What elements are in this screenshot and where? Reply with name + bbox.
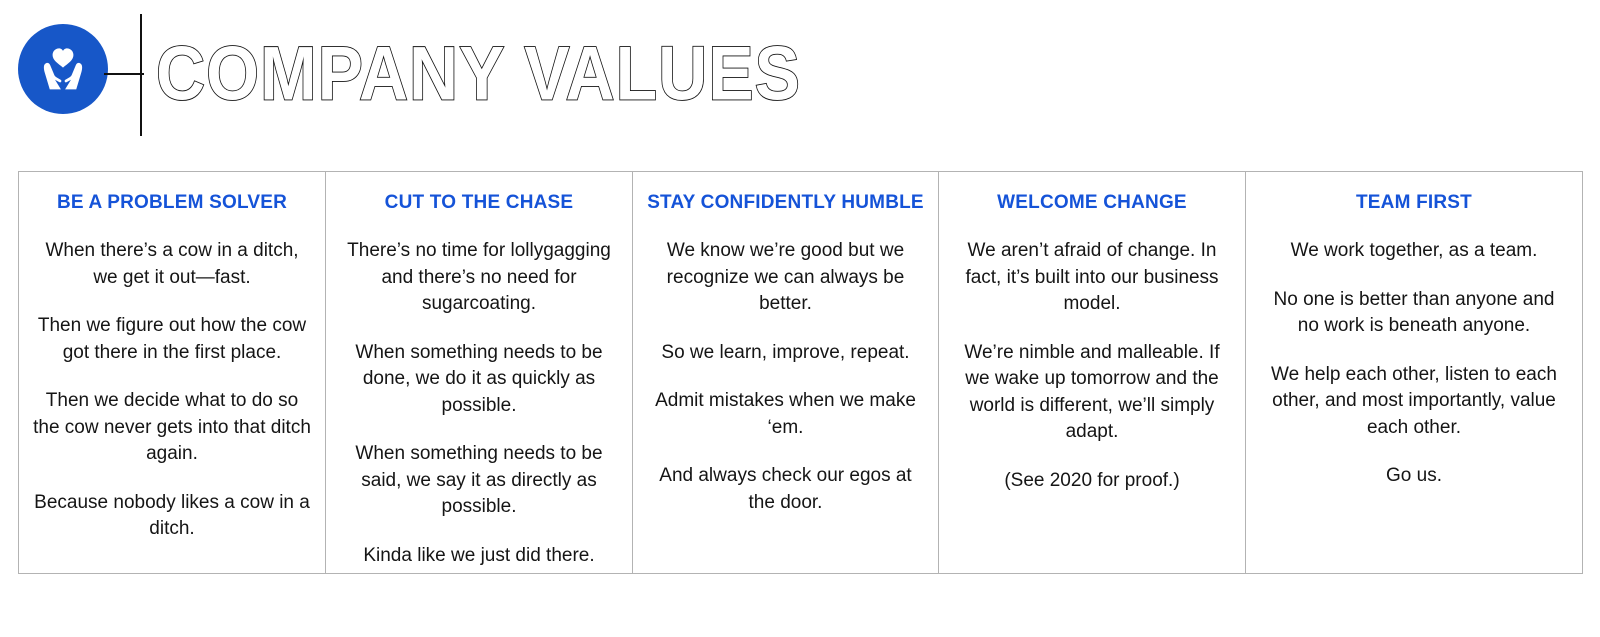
value-paragraph: When something needs to be said, we say … <box>340 441 618 521</box>
values-table: BE A PROBLEM SOLVER When there’s a cow i… <box>18 171 1583 574</box>
value-paragraph: We aren’t afraid of change. In fact, it’… <box>953 238 1231 318</box>
value-paragraph: We help each other, listen to each other… <box>1260 362 1568 442</box>
value-column-cut-to-the-chase: CUT TO THE CHASE There’s no time for lol… <box>326 172 633 573</box>
page-header: COMPANY VALUES <box>0 0 1600 150</box>
value-body: We aren’t afraid of change. In fact, it’… <box>953 238 1231 494</box>
value-heading: TEAM FIRST <box>1260 190 1568 216</box>
company-logo <box>18 24 108 114</box>
value-body: We know we’re good but we recognize we c… <box>647 238 924 516</box>
value-paragraph: There’s no time for lollygagging and the… <box>340 238 618 318</box>
value-column-team-first: TEAM FIRST We work together, as a team. … <box>1246 172 1582 573</box>
value-paragraph: We work together, as a team. <box>1260 238 1568 265</box>
page-title: COMPANY VALUES <box>156 29 801 119</box>
value-paragraph: We’re nimble and malleable. If we wake u… <box>953 340 1231 446</box>
logo-connector-line <box>104 73 144 75</box>
value-paragraph: (See 2020 for proof.) <box>953 468 1231 495</box>
value-body: We work together, as a team. No one is b… <box>1260 238 1568 490</box>
value-paragraph: When there’s a cow in a ditch, we get it… <box>33 238 311 291</box>
value-paragraph: Kinda like we just did there. <box>340 543 618 570</box>
value-paragraph: And always check our egos at the door. <box>647 463 924 516</box>
value-paragraph: We know we’re good but we recognize we c… <box>647 238 924 318</box>
value-body: There’s no time for lollygagging and the… <box>340 238 618 569</box>
value-heading: BE A PROBLEM SOLVER <box>33 190 311 216</box>
value-paragraph: Then we decide what to do so the cow nev… <box>33 388 311 468</box>
value-heading: CUT TO THE CHASE <box>340 190 618 216</box>
company-values-page: COMPANY VALUES BE A PROBLEM SOLVER When … <box>0 0 1600 637</box>
value-paragraph: So we learn, improve, repeat. <box>647 340 924 367</box>
value-column-stay-confidently-humble: STAY CONFIDENTLY HUMBLE We know we’re go… <box>633 172 939 573</box>
value-body: When there’s a cow in a ditch, we get it… <box>33 238 311 543</box>
header-vertical-divider <box>140 14 142 136</box>
value-paragraph: Then we figure out how the cow got there… <box>33 313 311 366</box>
value-column-be-a-problem-solver: BE A PROBLEM SOLVER When there’s a cow i… <box>19 172 326 573</box>
value-heading: STAY CONFIDENTLY HUMBLE <box>647 190 924 216</box>
value-paragraph: Because nobody likes a cow in a ditch. <box>33 490 311 543</box>
value-paragraph: No one is better than anyone and no work… <box>1260 287 1568 340</box>
value-column-welcome-change: WELCOME CHANGE We aren’t afraid of chang… <box>939 172 1246 573</box>
value-heading: WELCOME CHANGE <box>953 190 1231 216</box>
value-paragraph: Go us. <box>1260 463 1568 490</box>
value-paragraph: Admit mistakes when we make ‘em. <box>647 388 924 441</box>
hands-holding-heart-icon <box>34 40 92 98</box>
value-paragraph: When something needs to be done, we do i… <box>340 340 618 420</box>
